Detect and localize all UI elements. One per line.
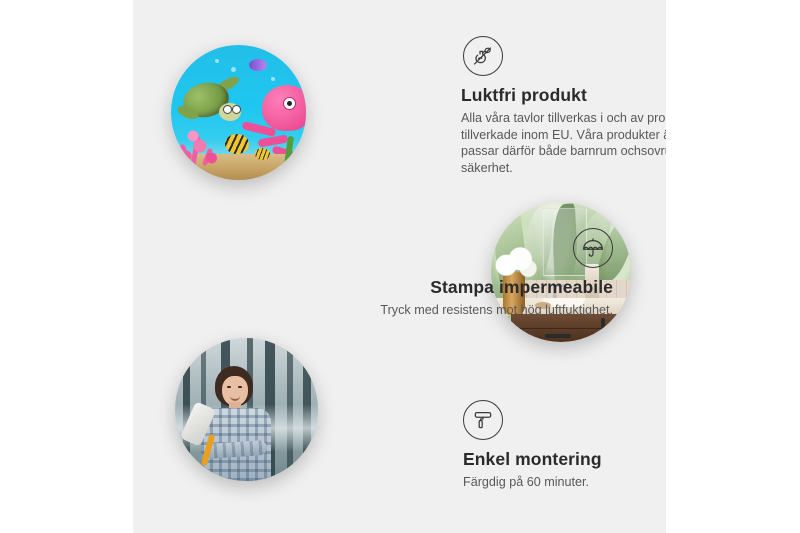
feature-icon-row xyxy=(313,228,613,268)
screenshot-stage: Luktfri produkt Alla våra tavlor tillver… xyxy=(0,0,800,533)
product-feature-panel: Luktfri produkt Alla våra tavlor tillver… xyxy=(133,0,666,533)
purple-fish-icon xyxy=(249,59,267,71)
woman-eye xyxy=(238,386,242,388)
feature-title: Luktfri produkt xyxy=(461,85,666,106)
cabinet-handle xyxy=(601,318,605,342)
feature-body: Färgdig på 60 minuter. xyxy=(463,474,666,491)
feature-body: Alla våra tavlor tillverkas i och av pro… xyxy=(461,110,666,176)
paint-roller-icon xyxy=(463,400,503,440)
turtle-eye xyxy=(223,105,232,114)
woman-eye xyxy=(227,386,231,388)
umbrella-icon xyxy=(573,228,613,268)
feature-block-waterproof: Stampa impermeabile Tryck med resistens … xyxy=(313,228,613,319)
feature-body: Tryck med resistens mot hög luftfuktighe… xyxy=(313,302,613,319)
no-fragrance-spray-icon xyxy=(463,36,503,76)
product-photo-sea[interactable] xyxy=(171,45,306,180)
feature-title: Stampa impermeabile xyxy=(313,277,613,298)
bubble-icon xyxy=(231,67,236,72)
feature-title: Enkel montering xyxy=(463,449,666,470)
octopus-eye xyxy=(283,97,296,110)
small-fish-icon xyxy=(255,148,270,160)
bubble-icon xyxy=(271,77,275,81)
coral-cluster xyxy=(177,124,223,164)
feature-block-odourless: Luktfri produkt Alla våra tavlor tillver… xyxy=(461,36,666,176)
butterfly-fish-icon xyxy=(225,134,249,154)
photo-sea-inner xyxy=(171,45,306,180)
photo-forest-inner xyxy=(175,338,318,481)
feature-block-easy-install: Enkel montering Färgdig på 60 minuter. xyxy=(463,400,666,491)
drawer-divider xyxy=(511,328,631,329)
bubble-icon xyxy=(215,59,219,63)
turtle-eye xyxy=(232,105,241,114)
drawer-handle xyxy=(545,334,571,338)
product-photo-forest-painter[interactable] xyxy=(175,338,318,481)
